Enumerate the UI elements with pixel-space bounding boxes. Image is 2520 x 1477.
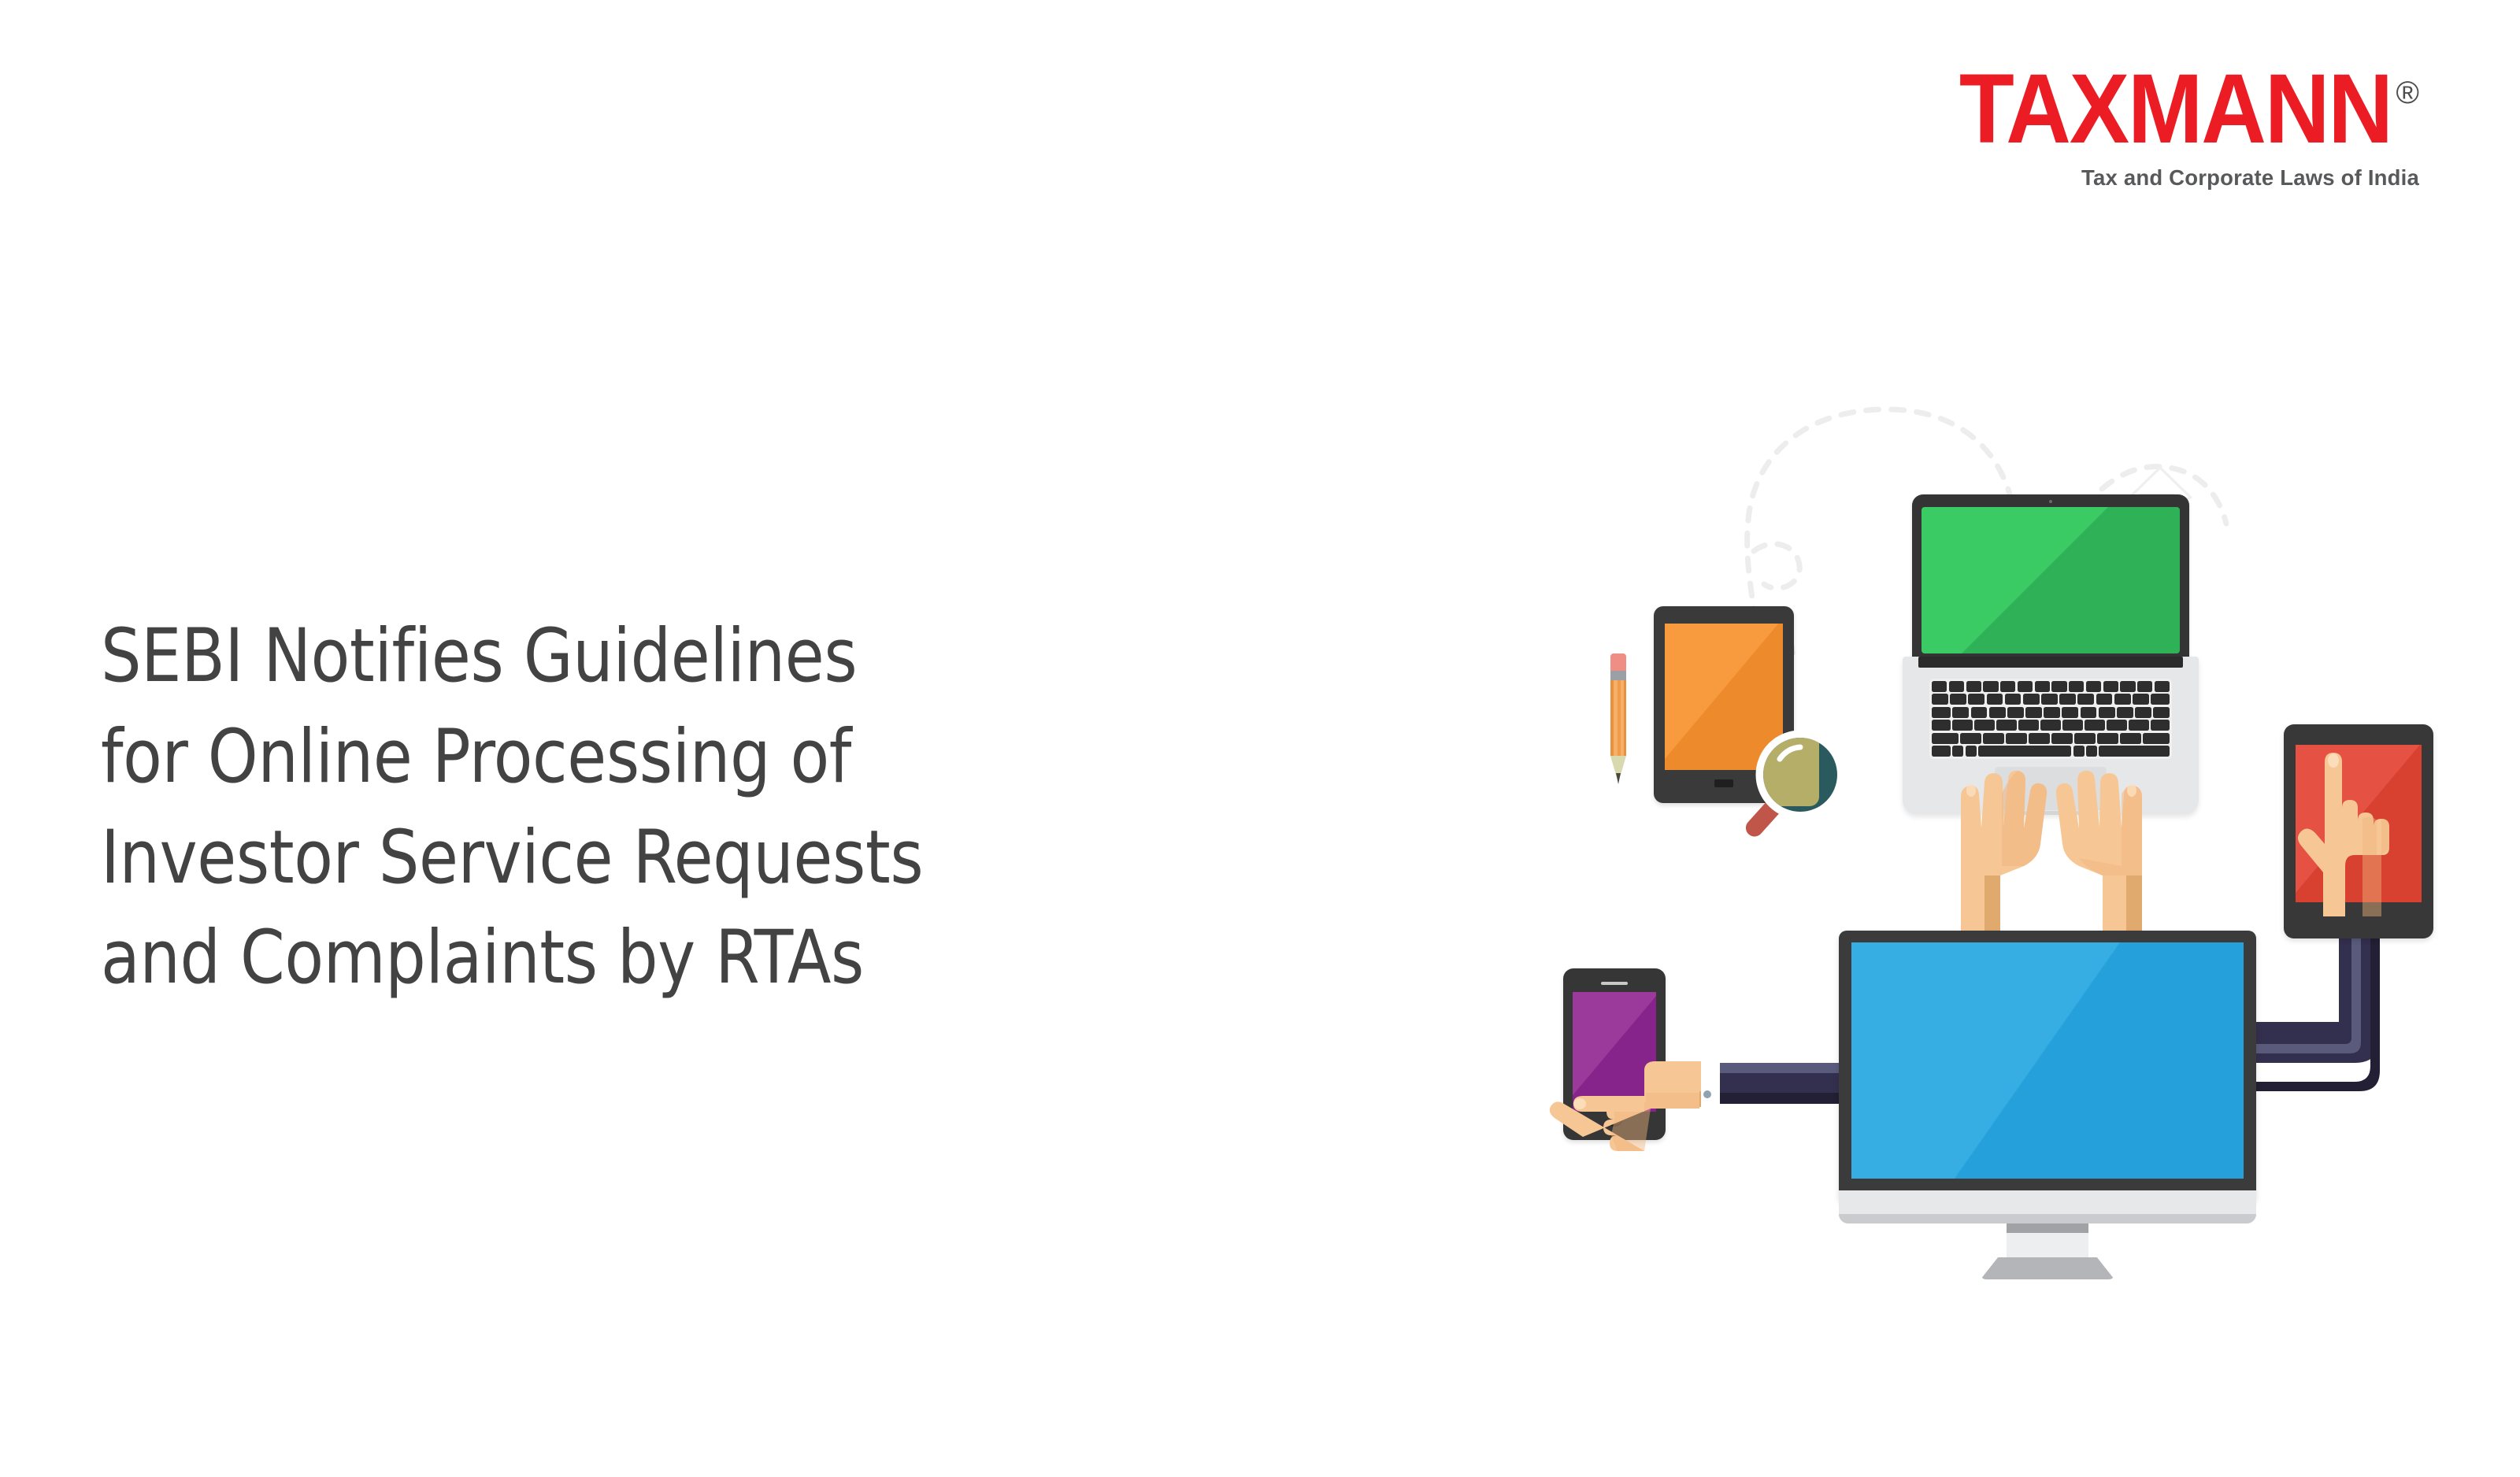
laptop-camera-icon <box>2049 500 2052 503</box>
key <box>2114 694 2131 705</box>
key <box>1950 694 1966 705</box>
brand-wordmark-row: TAXMANN ® <box>1984 76 2419 154</box>
key-delete <box>2151 694 2170 705</box>
tablet-red-device <box>2284 724 2433 938</box>
key <box>1952 720 1973 731</box>
key <box>2018 681 2033 692</box>
key <box>2086 681 2101 692</box>
page-title: SEBI Notifies Guidelines for Online Proc… <box>101 606 1220 1009</box>
keyboard-row-home <box>1932 720 2170 731</box>
monitor-chin-shade <box>1839 1214 2256 1223</box>
key <box>2135 707 2151 718</box>
arm-to-phone <box>1718 1063 1856 1104</box>
keyboard-row-function <box>1932 681 2170 692</box>
key-cmd <box>1966 746 1977 757</box>
key <box>2081 707 2097 718</box>
registered-trademark-icon: ® <box>2396 77 2419 109</box>
key-alt <box>1952 746 1963 757</box>
monitor-foot <box>1981 1257 2114 1279</box>
pencil-icon <box>1608 653 1629 787</box>
key <box>2023 694 2040 705</box>
key <box>2085 720 2105 731</box>
laptop-keyboard[interactable] <box>1929 679 2172 759</box>
arm-to-tablet <box>2244 937 2380 1091</box>
magnifying-glass-icon <box>1731 702 1865 860</box>
headline-line-4: and Complaints by RTAs <box>101 908 1220 1009</box>
key <box>2155 681 2170 692</box>
key-tab <box>1932 707 1951 718</box>
monitor-screen <box>1851 942 2244 1179</box>
key <box>2005 694 2022 705</box>
key <box>1968 694 1984 705</box>
key <box>1996 720 2017 731</box>
headline-line-3: Investor Service Requests <box>101 808 1220 909</box>
key-return <box>2151 720 2170 731</box>
key <box>2062 707 2078 718</box>
key <box>2077 694 2094 705</box>
key <box>2051 681 2066 692</box>
key <box>1989 707 2006 718</box>
key <box>2120 733 2141 744</box>
key <box>2120 681 2135 692</box>
key <box>1971 707 1988 718</box>
key-cmd-right <box>2073 746 2085 757</box>
key <box>1987 694 2003 705</box>
key <box>2000 681 2015 692</box>
key <box>1960 733 1981 744</box>
phone-purple-bezel <box>1563 968 1666 1140</box>
brand-tagline: Tax and Corporate Laws of India <box>1984 167 2419 189</box>
hero-illustration <box>1536 315 2520 1299</box>
tablet-red-screen <box>2296 745 2422 902</box>
key-caps <box>1932 720 1951 731</box>
key <box>2129 720 2149 731</box>
phone-home-button[interactable] <box>1606 1118 1623 1127</box>
pencil-tip <box>1616 773 1621 784</box>
key <box>1983 733 2004 744</box>
brand-logo: TAXMANN ® Tax and Corporate Laws of Indi… <box>1984 76 2419 189</box>
key <box>1983 681 1998 692</box>
laptop-hinge <box>1918 657 2183 668</box>
key <box>2018 720 2039 731</box>
keyboard-row-numbers <box>1932 694 2170 705</box>
key <box>2099 707 2115 718</box>
key-shift-right <box>2143 733 2170 744</box>
key <box>2044 707 2060 718</box>
key <box>2107 720 2127 731</box>
key <box>2137 681 2152 692</box>
key <box>1966 681 1981 692</box>
keyboard-row-qwerty <box>1932 707 2170 718</box>
key-shift-left <box>1932 733 1959 744</box>
key <box>1974 720 1995 731</box>
key <box>1952 707 1969 718</box>
key <box>1949 681 1964 692</box>
phone-purple-screen <box>1573 992 1656 1112</box>
laptop-device <box>1912 494 2189 833</box>
monitor-bezel <box>1839 931 2256 1202</box>
keyboard-row-space <box>1932 746 2170 757</box>
desktop-monitor-device <box>1839 931 2256 1277</box>
key <box>2103 681 2118 692</box>
key <box>2007 707 2024 718</box>
key <box>2006 733 2027 744</box>
key-ctrl <box>1932 746 1951 757</box>
key <box>2062 720 2083 731</box>
key-space <box>1978 746 2071 757</box>
key-arrows <box>2099 746 2170 757</box>
key <box>2096 694 2113 705</box>
laptop-trackpad[interactable] <box>1995 767 2107 810</box>
key <box>2041 694 2058 705</box>
key <box>2069 681 2084 692</box>
cuff-phone-arm <box>1695 1058 1720 1107</box>
laptop-base <box>1903 657 2199 814</box>
tablet-red-bezel <box>2284 724 2433 938</box>
key <box>2133 694 2149 705</box>
key <box>2059 694 2076 705</box>
monitor-neck-top <box>2007 1223 2088 1233</box>
key <box>2117 707 2133 718</box>
key <box>2035 681 2050 692</box>
laptop-front-notch <box>2013 811 2088 815</box>
key <box>1932 681 1947 692</box>
laptop-screen <box>1921 507 2180 653</box>
phone-speaker-icon <box>1601 982 1628 985</box>
laptop-lid <box>1912 494 2189 664</box>
pencil-body <box>1610 680 1626 756</box>
key-alt-right <box>2086 746 2097 757</box>
key <box>2153 707 2170 718</box>
pencil-ferrule <box>1610 671 1626 680</box>
headline-line-2: for Online Processing of <box>101 707 1220 808</box>
headline-line-1: SEBI Notifies Guidelines <box>101 606 1220 707</box>
phone-purple-device <box>1563 968 1666 1140</box>
keyboard-row-shift <box>1932 733 2170 744</box>
key <box>2097 733 2118 744</box>
key <box>2074 733 2096 744</box>
brand-wordmark: TAXMANN <box>1959 63 2392 154</box>
key <box>2029 733 2050 744</box>
key <box>2025 707 2042 718</box>
key <box>1932 694 1948 705</box>
key <box>2051 733 2073 744</box>
pencil-eraser <box>1610 653 1626 671</box>
key <box>2040 720 2061 731</box>
